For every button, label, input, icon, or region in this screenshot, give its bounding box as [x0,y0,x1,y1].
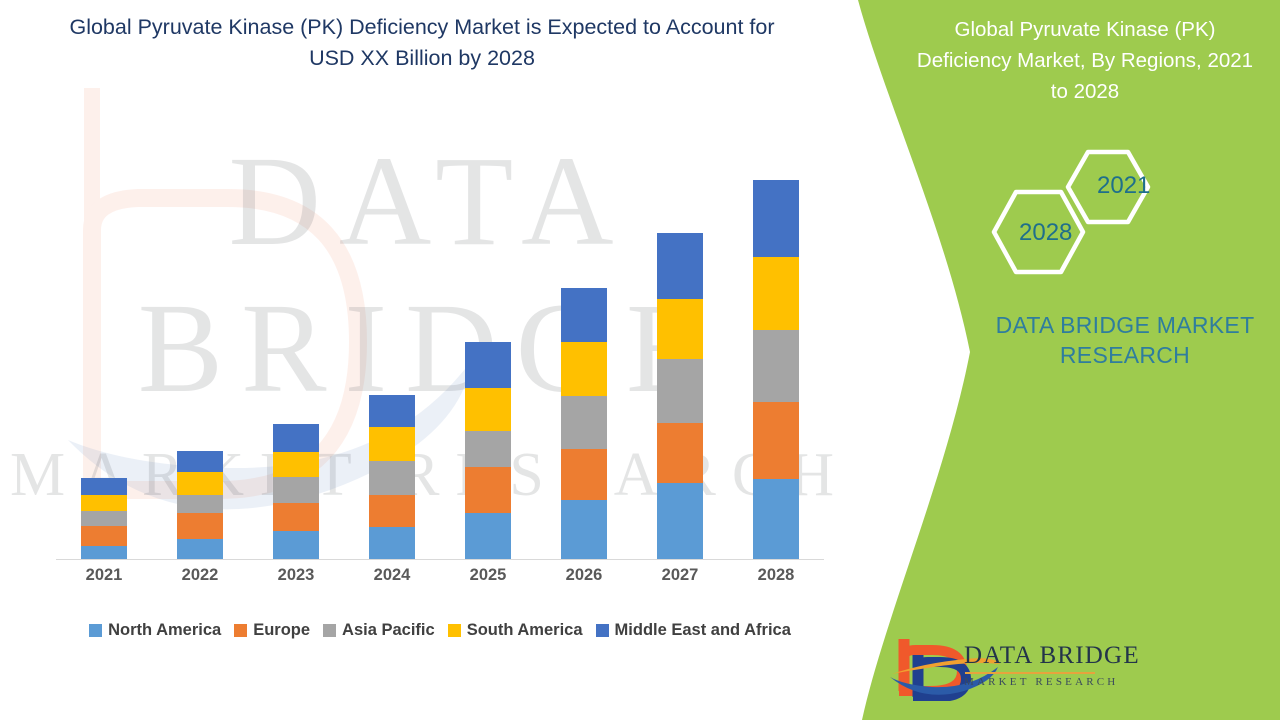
stacked-bar[interactable] [81,478,127,559]
legend-label: Middle East and Africa [615,621,791,640]
stacked-bar[interactable] [273,424,319,559]
legend-label: South America [467,621,583,640]
x-tick-2025: 2025 [440,566,536,592]
x-axis-line [56,559,824,560]
legend-item[interactable]: Asia Pacific [323,621,435,640]
bar-segment[interactable] [561,396,607,449]
bar-segment[interactable] [273,452,319,478]
bar-segment[interactable] [81,511,127,526]
bar-segment[interactable] [273,424,319,452]
x-tick-2026: 2026 [536,566,632,592]
bar-segment[interactable] [369,461,415,495]
bar-segment[interactable] [753,257,799,329]
bar-segment[interactable] [81,495,127,511]
bar-segment[interactable] [273,477,319,503]
legend-swatch-icon [596,624,609,637]
bar-slot-2026 [536,151,632,559]
bar-segment[interactable] [753,330,799,402]
bar-slot-2023 [248,151,344,559]
stacked-bar[interactable] [465,342,511,559]
x-tick-2023: 2023 [248,566,344,592]
bar-segment[interactable] [561,449,607,500]
legend-item[interactable]: North America [89,621,221,640]
x-tick-2021: 2021 [56,566,152,592]
bar-segment[interactable] [657,299,703,359]
plot-area [56,150,824,560]
stacked-bar[interactable] [177,451,223,559]
hex-label-2021: 2021 [1097,172,1150,200]
bar-segment[interactable] [177,451,223,472]
legend-label: Europe [253,621,310,640]
brand-name-text: DATA BRIDGE MARKET RESEARCH [975,310,1275,370]
bar-slot-2027 [632,151,728,559]
bar-segment[interactable] [465,513,511,559]
bar-segment[interactable] [273,531,319,559]
bar-segment[interactable] [177,495,223,513]
brand-name-line-1: DATA BRIDGE MARKET [996,312,1255,338]
bar-segment[interactable] [369,495,415,528]
page-title: Global Pyruvate Kinase (PK) Deficiency M… [52,12,792,74]
stacked-bar[interactable] [657,233,703,559]
brand-name-line-2: RESEARCH [1060,342,1190,368]
bar-segment[interactable] [81,526,127,545]
bar-slot-2021 [56,151,152,559]
x-tick-2024: 2024 [344,566,440,592]
bar-segment[interactable] [177,472,223,494]
x-tick-2027: 2027 [632,566,728,592]
bar-segment[interactable] [465,342,511,388]
bar-segment[interactable] [753,402,799,480]
bar-segment[interactable] [753,180,799,258]
bar-segment[interactable] [177,513,223,539]
hex-label-2028: 2028 [1019,219,1072,247]
bar-segment[interactable] [81,546,127,559]
legend-swatch-icon [234,624,247,637]
logo-divider [965,672,1095,674]
legend-label: North America [108,621,221,640]
bar-segment[interactable] [657,359,703,423]
bar-segment[interactable] [753,479,799,559]
legend-item[interactable]: Middle East and Africa [596,621,791,640]
bar-slot-2025 [440,151,536,559]
legend-item[interactable]: South America [448,621,583,640]
bar-segment[interactable] [561,288,607,342]
legend-swatch-icon [89,624,102,637]
brand-panel-title: Global Pyruvate Kinase (PK) Deficiency M… [910,14,1260,107]
bar-segment[interactable] [81,478,127,494]
bar-segment[interactable] [465,467,511,513]
bar-segment[interactable] [369,527,415,559]
x-tick-2028: 2028 [728,566,824,592]
legend-swatch-icon [323,624,336,637]
bar-slot-2022 [152,151,248,559]
bar-segment[interactable] [657,423,703,482]
bar-segment[interactable] [369,395,415,428]
bar-segment[interactable] [273,503,319,532]
bar-segment[interactable] [561,342,607,396]
chart-panel: Global Pyruvate Kinase (PK) Deficiency M… [0,0,860,720]
bar-segment[interactable] [561,500,607,559]
x-axis-tick-labels: 20212022202320242025202620272028 [56,566,824,592]
bar-slot-2024 [344,151,440,559]
logo-title: DATA BRIDGE [964,642,1140,670]
legend-swatch-icon [448,624,461,637]
bar-group [56,151,824,559]
stacked-bar[interactable] [753,180,799,559]
logo-wordmark: DATA BRIDGE MARKET RESEARCH [964,642,1140,688]
bar-segment[interactable] [657,233,703,299]
bar-segment[interactable] [657,483,703,560]
bar-segment[interactable] [465,388,511,431]
bar-segment[interactable] [369,427,415,461]
legend-item[interactable]: Europe [234,621,310,640]
stacked-bar[interactable] [369,395,415,559]
legend-label: Asia Pacific [342,621,435,640]
stacked-bar[interactable] [561,288,607,559]
bar-slot-2028 [728,151,824,559]
bar-segment[interactable] [177,539,223,559]
logo-subtitle: MARKET RESEARCH [964,676,1140,688]
bar-segment[interactable] [465,431,511,468]
x-tick-2022: 2022 [152,566,248,592]
chart-legend: North AmericaEuropeAsia PacificSouth Ame… [56,616,824,644]
infographic-root: DATA BRIDGE MARKET RESEARCH Global Pyruv… [0,0,1280,720]
